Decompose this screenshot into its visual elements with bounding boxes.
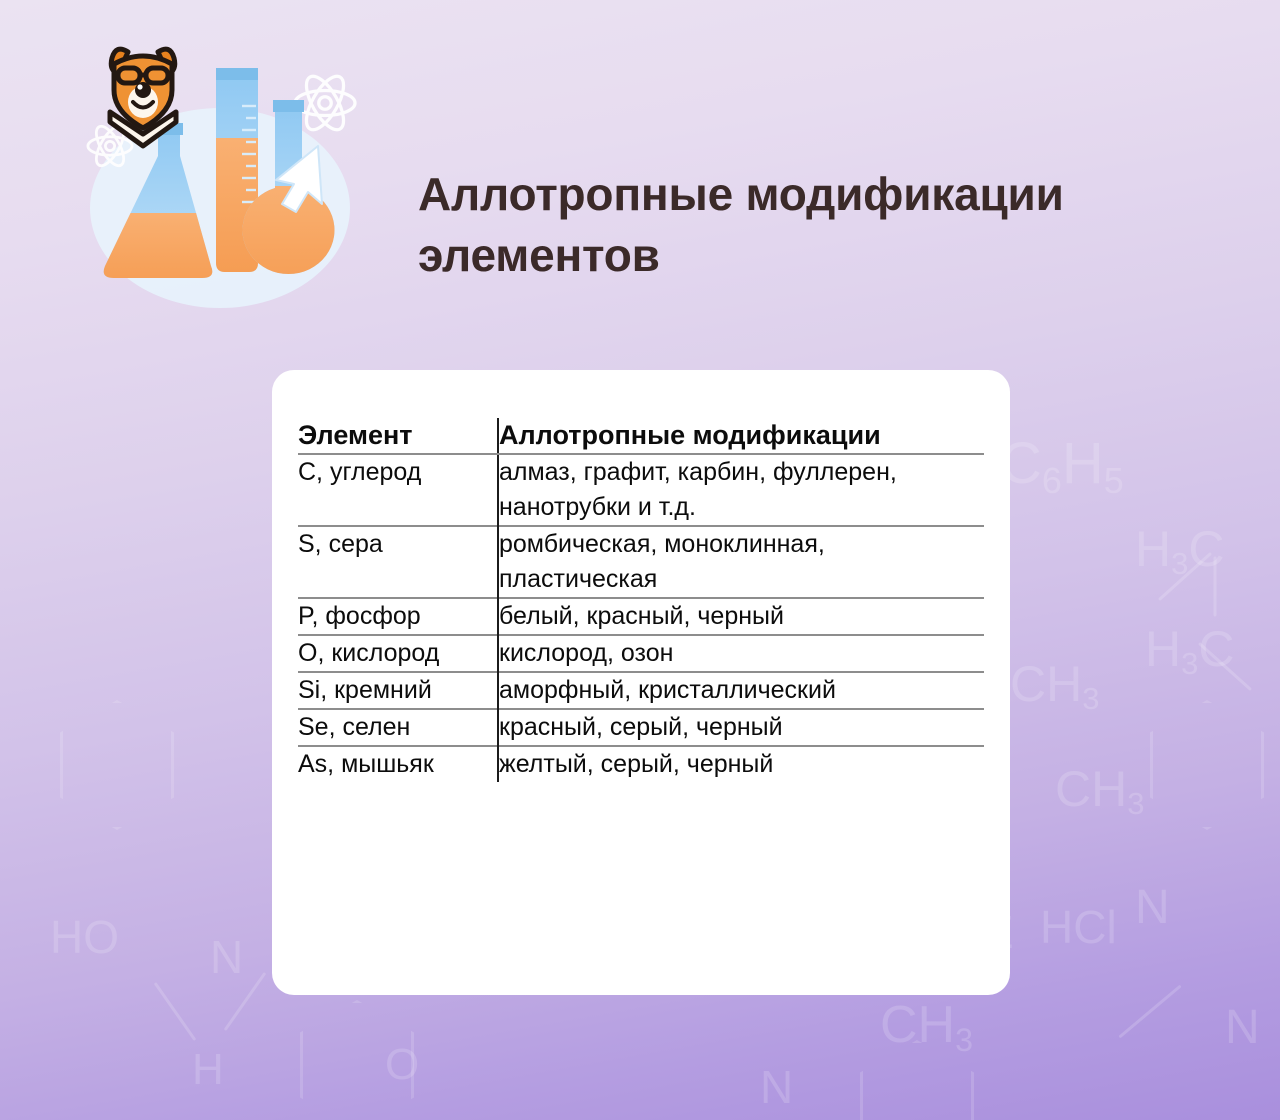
- cell-element: Si, кремний: [298, 672, 498, 709]
- cell-element: Se, селен: [298, 709, 498, 746]
- watermark-formula: N: [1225, 1000, 1260, 1055]
- cell-element: P, фосфор: [298, 598, 498, 635]
- watermark-formula: CH3: [880, 995, 973, 1055]
- content-card: Элемент Аллотропные модификации C, углер…: [272, 370, 1010, 995]
- watermark-formula: HCl: [1040, 900, 1117, 954]
- table-row: Si, кремний аморфный, кристаллический: [298, 672, 984, 709]
- cell-modifications: желтый, серый, черный: [498, 746, 984, 782]
- watermark-bond: [1158, 552, 1212, 601]
- watermark-formula: HO: [50, 910, 119, 964]
- table-row: C, углерод алмаз, графит, карбин, фуллер…: [298, 454, 984, 526]
- watermark-formula: C6H5: [1000, 430, 1124, 497]
- watermark-formula: H3C: [1135, 520, 1224, 578]
- watermark-formula: N: [210, 930, 243, 984]
- column-header-modifications: Аллотропные модификации: [498, 418, 984, 454]
- watermark-benzene-ring: [60, 700, 174, 830]
- watermark-bond: [1214, 557, 1217, 617]
- table-body: C, углерод алмаз, графит, карбин, фуллер…: [298, 454, 984, 782]
- cell-modifications: белый, красный, черный: [498, 598, 984, 635]
- table-row: As, мышьяк желтый, серый, черный: [298, 746, 984, 782]
- cell-element: C, углерод: [298, 454, 498, 526]
- watermark-benzene-ring: [860, 1040, 974, 1120]
- bear-with-glasses-book-logo: [110, 49, 176, 146]
- watermark-bond: [1198, 642, 1252, 691]
- slide-canvas: C6H5 H3C H3C CH3 CH3 CH3 N N Z HCl HO N …: [0, 0, 1280, 1120]
- table-row: Se, селен красный, серый, черный: [298, 709, 984, 746]
- cell-element: O, кислород: [298, 635, 498, 672]
- cell-element: As, мышьяк: [298, 746, 498, 782]
- watermark-bond: [154, 982, 197, 1041]
- watermark-formula: H: [192, 1045, 224, 1095]
- watermark-formula: H3C: [1145, 620, 1234, 678]
- watermark-benzene-ring: [300, 1000, 414, 1120]
- chemistry-flasks-illustration: [70, 28, 370, 313]
- cell-modifications: кислород, озон: [498, 635, 984, 672]
- allotropes-table: Элемент Аллотропные модификации C, углер…: [298, 418, 984, 782]
- watermark-formula: O: [385, 1040, 419, 1090]
- cell-element: S, сера: [298, 526, 498, 598]
- cell-modifications: ромбическая, моноклинная, пластическая: [498, 526, 984, 598]
- table-header-row: Элемент Аллотропные модификации: [298, 418, 984, 454]
- column-header-element: Элемент: [298, 418, 498, 454]
- watermark-benzene-ring: [1150, 700, 1264, 830]
- allotropes-table-wrapper: Элемент Аллотропные модификации C, углер…: [298, 418, 984, 782]
- table-row: P, фосфор белый, красный, черный: [298, 598, 984, 635]
- cell-modifications: аморфный, кристаллический: [498, 672, 984, 709]
- watermark-formula: N: [1135, 880, 1170, 935]
- watermark-formula: CH3: [1010, 655, 1099, 713]
- watermark-formula: N: [760, 1060, 793, 1114]
- table-row: S, сера ромбическая, моноклинная, пласти…: [298, 526, 984, 598]
- page-title: Аллотропные модификации элементов: [418, 164, 1178, 286]
- table-header: Элемент Аллотропные модификации: [298, 418, 984, 454]
- watermark-bond: [1118, 985, 1181, 1039]
- watermark-bond: [224, 972, 267, 1031]
- cell-modifications: красный, серый, черный: [498, 709, 984, 746]
- table-row: O, кислород кислород, озон: [298, 635, 984, 672]
- cell-modifications: алмаз, графит, карбин, фуллерен, нанотру…: [498, 454, 984, 526]
- watermark-formula: CH3: [1055, 760, 1144, 818]
